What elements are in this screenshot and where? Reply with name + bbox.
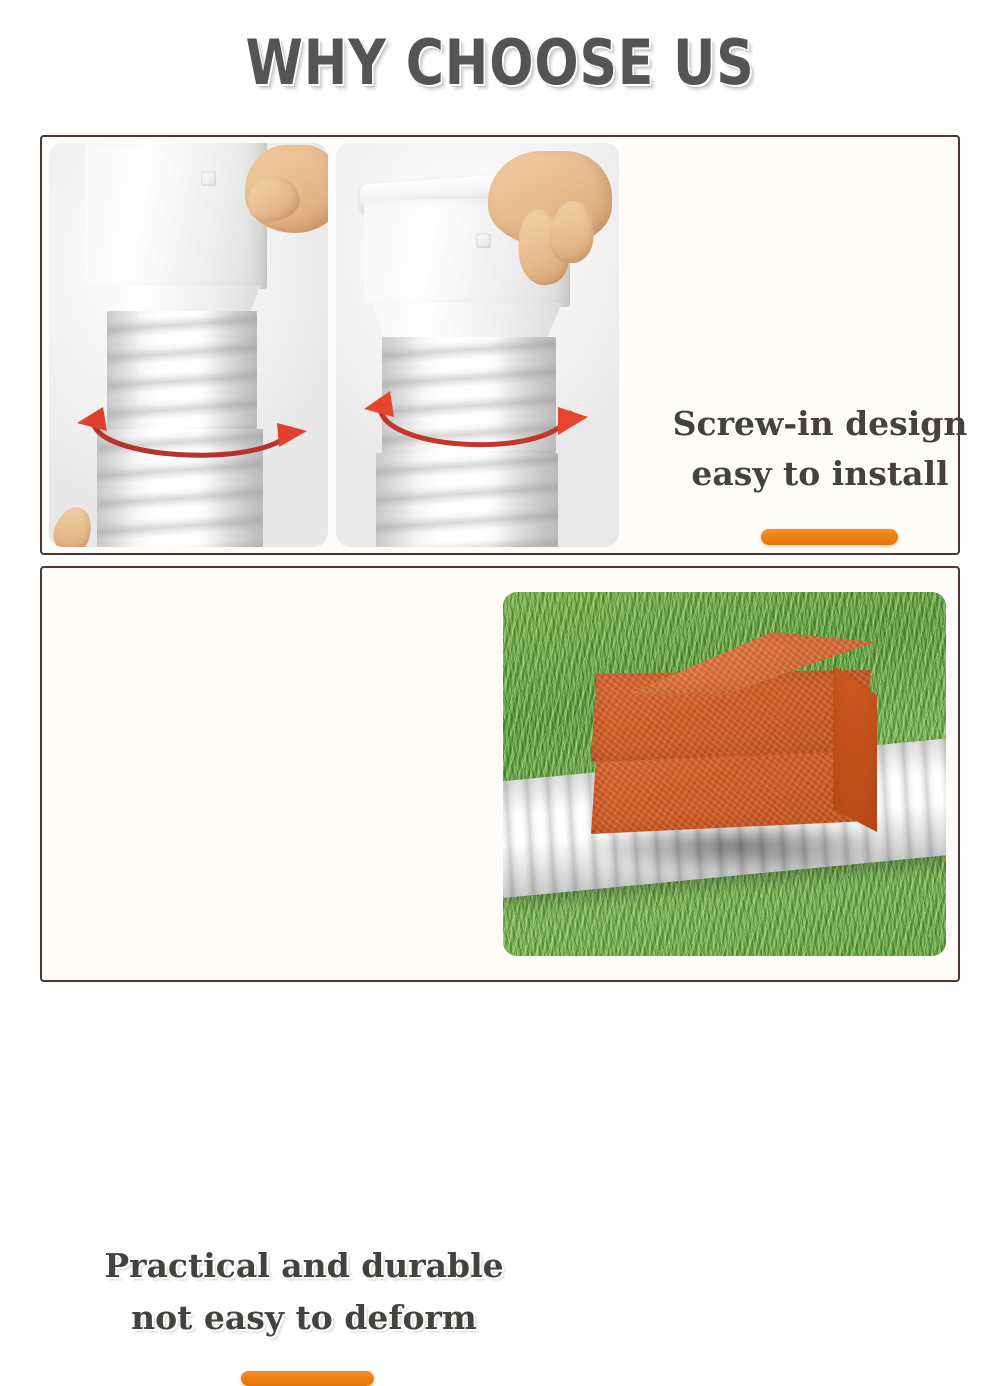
rotation-arrow-left	[63, 397, 315, 475]
pipe-scene-left	[49, 143, 328, 547]
page-title-container: WHY CHOOSE US	[0, 28, 1000, 98]
pipe-taper-right	[372, 303, 562, 339]
pipe-top-fitting-left	[85, 143, 267, 289]
finger-lower-left-photo	[49, 503, 97, 547]
pipe-fitting-marker-left	[201, 171, 216, 186]
product-feature-page: WHY CHOOSE US	[0, 0, 1000, 1000]
rotation-arrow-right	[352, 383, 592, 463]
pipe-rotation-photo-left	[49, 143, 328, 547]
caption-line-2: not easy to deform	[94, 1292, 514, 1344]
feature-panel-screw-in: Screw-in design easy to install	[40, 135, 960, 555]
pipe-rotation-photo-right	[336, 143, 619, 547]
pipe-bellows-shading-lower-right	[376, 453, 558, 547]
caption-line-1: Screw-in design	[650, 399, 990, 449]
pipe-taper-left	[97, 285, 261, 313]
page-title: WHY CHOOSE US	[245, 28, 754, 98]
accent-bar-screw-in	[761, 529, 898, 545]
brick-on-pipe-photo	[503, 592, 946, 956]
caption-durable: Practical and durable not easy to deform	[94, 1240, 514, 1344]
caption-screw-in: Screw-in design easy to install	[650, 399, 990, 499]
pipe-fitting-marker-right	[476, 233, 491, 248]
caption-line-1: Practical and durable	[94, 1240, 514, 1292]
pipe-bellows-lower-right	[376, 453, 558, 547]
feature-panel-durable: Practical and durable not easy to deform	[40, 566, 960, 982]
pipe-scene-right	[336, 143, 619, 547]
caption-line-2: easy to install	[650, 449, 990, 499]
accent-bar-durable	[241, 1371, 374, 1386]
